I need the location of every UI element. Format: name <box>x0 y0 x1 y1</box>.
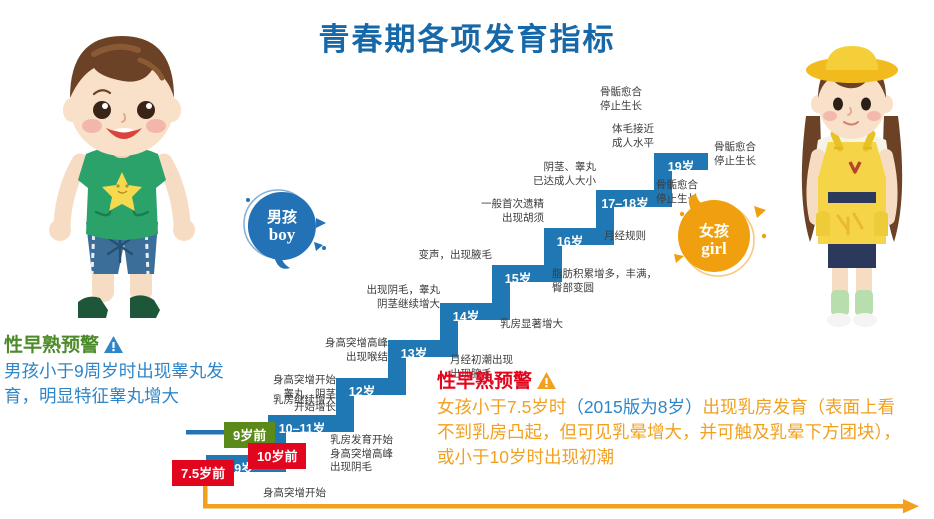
girl-warning-heading-text: 性早熟预警 <box>437 371 532 392</box>
badge-girl-7-5: 7.5岁前 <box>172 460 234 486</box>
girl-warning-body: 女孩小于7.5岁时（2015版为8岁）出现乳房发育（表面上看不到乳房凸起，但可见… <box>437 395 907 470</box>
boy-note-19: 骨骺愈合 停止生长 <box>600 86 710 113</box>
boy-warning-heading-text: 性早熟预警 <box>4 335 99 356</box>
girl-bubble: 女孩 girl <box>668 192 778 286</box>
girl-note-17-18: 骨骺愈合 停止生长 <box>714 141 834 168</box>
boy-note-13: 出现阴毛，睾丸 阴茎继续增大 <box>340 284 440 311</box>
step-age-12: 12岁 <box>336 381 388 400</box>
boy-note-16: 阴茎、睾丸 已达成人大小 <box>492 161 596 188</box>
girl-note-13: 乳房显著增大 <box>500 318 620 332</box>
boy-warning-heading: 性早熟预警 <box>4 330 254 359</box>
step-age-13: 13岁 <box>388 343 440 362</box>
boy-warning-block: 性早熟预警 男孩小于9周岁时出现睾丸发育，明显特征睾丸增大 <box>4 330 254 409</box>
step-age-17-18: 17–18岁 <box>596 193 654 212</box>
boy-bubble-cn: 男孩 <box>246 210 318 226</box>
warning-triangle-icon <box>537 372 556 395</box>
baseline-note: 身高突增开始 <box>263 487 403 501</box>
girl-warning-body-highlight: （2015版为8岁） <box>566 397 702 417</box>
boy-note-12: 身高突增高峰 出现喉结 <box>296 337 388 364</box>
infographic-canvas: 青春期各项发育指标 <box>0 0 934 519</box>
step-age-10-11: 10–11岁 <box>268 418 336 437</box>
girl-bubble-cn: 女孩 <box>678 224 750 240</box>
girl-bubble-en: girl <box>678 240 750 258</box>
boy-note-14: 变声，出现腋毛 <box>392 249 492 263</box>
timeline-arrow <box>203 499 919 513</box>
boy-bubble-en: boy <box>246 226 318 244</box>
step-age-19: 19岁 <box>654 156 708 175</box>
girl-warning-block: 性早熟预警 女孩小于7.5岁时（2015版为8岁）出现乳房发育（表面上看不到乳房… <box>437 366 917 470</box>
girl-note-8-9: 乳房发育开始 身高突增高峰 出现阴毛 <box>330 434 450 475</box>
badge-girl-10: 10岁前 <box>248 443 306 469</box>
girl-note-10-11: 乳房继续增大 <box>250 394 336 408</box>
girl-warning-body-part1: 女孩小于7.5岁时 <box>437 397 566 417</box>
boy-warning-body: 男孩小于9周岁时出现睾丸发育，明显特征睾丸增大 <box>4 359 240 409</box>
boy-note-17-18: 体毛接近 成人水平 <box>550 123 654 150</box>
boy-note-15: 一般首次遗精 出现胡须 <box>440 198 544 225</box>
step-age-14: 14岁 <box>440 306 492 325</box>
warning-triangle-icon <box>104 336 123 359</box>
step-age-15: 15岁 <box>492 268 544 287</box>
girl-warning-heading: 性早熟预警 <box>437 366 917 395</box>
boy-bubble: 男孩 boy <box>234 186 330 272</box>
step-age-16: 16岁 <box>544 231 596 250</box>
